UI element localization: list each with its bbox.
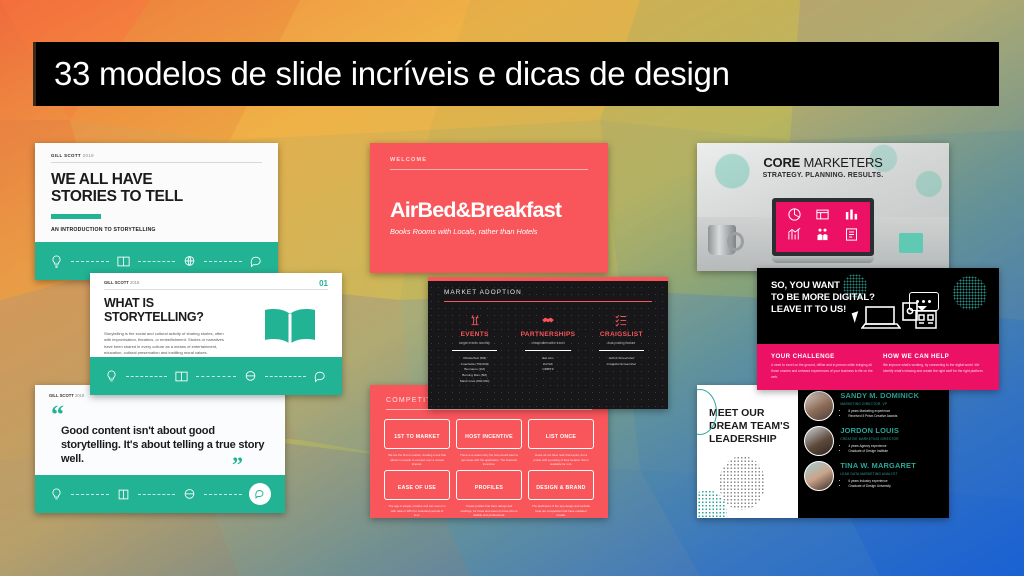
people-icon <box>815 227 830 247</box>
market-column: EVENTS target events monthly Oktoberfest… <box>438 312 511 385</box>
advantage-card: EASE OF USEThe app is simple, intuitive … <box>384 470 450 518</box>
list-item: ORBITZ <box>511 367 584 373</box>
list-item: Mardi Gras (800,000) <box>438 379 511 385</box>
slide-eyebrow: WELCOME <box>370 143 608 163</box>
book-icon <box>116 487 131 502</box>
column-desc: cheap/alternative travel <box>511 341 584 345</box>
column-name: PARTNERSHIPS <box>511 331 584 338</box>
quote-block: “ Good content isn't about good storytel… <box>35 398 285 466</box>
member-name: SANDY M. DOMINICK <box>840 391 919 400</box>
divider <box>71 261 109 262</box>
speech-bubble-icon <box>249 254 264 269</box>
book-icon <box>116 254 131 269</box>
panel: HOW WE CAN HELP We improve what's workin… <box>883 353 985 381</box>
card-label: DESIGN & BRAND <box>536 485 585 491</box>
advantage-card: DESIGN & BRANDThe aesthetics of the app … <box>528 470 594 518</box>
divider <box>138 261 176 262</box>
member-bullet: Received 5 Prism Creative Awards <box>848 414 919 419</box>
slide-thumbnail-stories-title[interactable]: GILL SCOTT 2018 WE ALL HAVE STORIES TO T… <box>35 143 278 280</box>
slide-body-text: Storytelling is the social and cultural … <box>90 325 240 357</box>
slide-subtitle: STRATEGY. PLANNING. RESULTS. <box>697 172 949 179</box>
page-title: 33 modelos de slide incríveis e dicas de… <box>54 55 730 93</box>
member-name: TINA W. MARGARET <box>840 461 916 470</box>
team-member: TINA W. MARGARET LEAD DATA MARKETING ANA… <box>804 461 941 491</box>
card-label: LIST ONCE <box>546 434 576 440</box>
slide-header-brand: GILL SCOTT 2018 <box>90 273 342 285</box>
page-title-banner: 33 modelos de slide incríveis e dicas de… <box>33 42 999 106</box>
green-box-prop <box>899 233 923 253</box>
globe-icon <box>182 487 197 502</box>
slide-title: MARKET ADOPTION <box>428 277 668 296</box>
advantage-card: LIST ONCEHosts do not have 'ads' that ex… <box>528 419 594 467</box>
advantage-card: PROFILESCreate profiles that have rating… <box>456 470 522 518</box>
card-label: PROFILES <box>475 485 503 491</box>
slide-footer-iconbar <box>90 357 342 395</box>
divider <box>138 494 176 495</box>
coffee-mug <box>708 225 736 255</box>
panel-heading: YOUR CHALLENGE <box>771 353 873 360</box>
divider <box>71 494 109 495</box>
column-name: EVENTS <box>438 331 511 338</box>
dot-circle-decoration <box>719 456 765 510</box>
member-bullet: Graduate of Design University <box>848 484 916 489</box>
column-desc: dual posting feature <box>585 341 658 345</box>
slide-title: WE ALL HAVE STORIES TO TELL <box>35 163 278 205</box>
lightbulb-icon <box>49 487 64 502</box>
card-text: We are the first to market, creating a t… <box>384 449 450 467</box>
list-icon <box>844 227 859 247</box>
pie-chart-icon <box>787 207 802 227</box>
qr-icon <box>915 310 937 330</box>
avatar <box>804 461 834 491</box>
slide-thumbnail-more-digital[interactable]: SO, YOU WANT TO BE MORE DIGITAL? LEAVE I… <box>757 268 999 390</box>
globe-icon <box>182 254 197 269</box>
team-member: SANDY M. DOMINICK MARKETING DIRECTOR, VP… <box>804 391 941 421</box>
divider <box>204 494 242 495</box>
column-name: CRAIGSLIST <box>585 331 658 338</box>
card-label: 1ST TO MARKET <box>394 434 440 440</box>
panel-heading: HOW WE CAN HELP <box>883 353 985 360</box>
slide-header-brand: GILL SCOTT 2018 <box>35 143 278 158</box>
lightbulb-icon <box>49 254 64 269</box>
advantage-card: HOST INCENTIVEThere is a reason why the … <box>456 419 522 467</box>
divider <box>126 376 167 377</box>
member-role: LEAD DATA MARKETING ANALYST <box>840 472 916 476</box>
divider <box>265 376 306 377</box>
panel: YOUR CHALLENGE A need to excel on the gr… <box>771 353 873 381</box>
card-text: There is a reason why the host would wan… <box>456 449 522 467</box>
speech-bubble-icon <box>313 369 328 384</box>
slide-thumbnail-core-marketers[interactable]: CORE MARKETERS STRATEGY. PLANNING. RESUL… <box>697 143 949 271</box>
open-book-icon <box>260 306 320 348</box>
slide-thumbnail-market-adoption[interactable]: MARKET ADOPTION EVENTS target events mon… <box>428 277 668 409</box>
laptop-icon <box>861 304 901 332</box>
slide-thumbnail-dream-team[interactable]: MEET OUR DREAM TEAM'S LEADERSHIP SANDY M… <box>697 385 949 518</box>
slide-number: 01 <box>319 279 328 288</box>
avatar <box>804 426 834 456</box>
laptop-base <box>772 256 874 263</box>
checklist-icon <box>585 312 658 327</box>
team-member: JORDON LOUIS CREATIVE MARKETING DIRECTOR… <box>804 426 941 456</box>
globe-icon <box>243 369 258 384</box>
slide-tagline: Books Rooms with Locals, rather than Hot… <box>370 223 608 236</box>
slide-footer-iconbar <box>35 475 285 513</box>
slide-thumbnail-airbed-welcome[interactable]: WELCOME AirBed&Breakfast Books Rooms wit… <box>370 143 608 273</box>
lightbulb-icon <box>104 369 119 384</box>
advantage-card: 1ST TO MARKETWe are the first to market,… <box>384 419 450 467</box>
slide-left-panel: MEET OUR DREAM TEAM'S LEADERSHIP <box>697 385 798 518</box>
panel-text: We improve what's working, by connecting… <box>883 363 985 375</box>
card-text: Hosts do not have 'ads' that expire, but… <box>528 449 594 467</box>
slide-heading-block: CORE MARKETERS STRATEGY. PLANNING. RESUL… <box>697 155 949 179</box>
laptop-screen <box>772 198 874 256</box>
member-name: JORDON LOUIS <box>840 426 899 435</box>
market-column: PARTNERSHIPS cheap/alternative travel Ea… <box>511 312 584 385</box>
divider <box>204 261 242 262</box>
slide-thumbnail-quote[interactable]: GILL SCOTT 2018 “ Good content isn't abo… <box>35 385 285 513</box>
market-columns: EVENTS target events monthly Oktoberfest… <box>428 302 668 385</box>
card-text: The aesthetics of the app design and web… <box>528 500 594 518</box>
card-text: Create profiles that have ratings and ra… <box>456 500 522 518</box>
panels-pink-band: YOUR CHALLENGE A need to excel on the gr… <box>757 344 999 390</box>
member-role: CREATIVE MARKETING DIRECTOR <box>840 437 899 441</box>
divider <box>599 350 644 351</box>
speech-bubble-icon-active <box>249 483 271 505</box>
divider <box>525 350 570 351</box>
panel-text: A need to excel on the ground, offline a… <box>771 363 873 380</box>
divider <box>196 376 237 377</box>
card-text: The app is simple, intuitive and can eve… <box>384 500 450 518</box>
list-item: Craigslist Screenshot <box>585 362 658 368</box>
avatar <box>804 391 834 421</box>
cheers-glasses-icon <box>438 312 511 327</box>
slide-thumbnail-what-is-storytelling[interactable]: GILL SCOTT 2018 01 WHAT IS STORYTELLING?… <box>90 273 342 395</box>
browser-window-icon <box>815 207 830 227</box>
column-desc: target events monthly <box>438 341 511 345</box>
growth-chart-icon <box>787 227 802 247</box>
divider <box>452 350 497 351</box>
device-illustration-group <box>861 288 947 334</box>
advantage-grid: 1ST TO MARKETWe are the first to market,… <box>370 410 608 518</box>
book-icon <box>174 369 189 384</box>
card-label: EASE OF USE <box>398 485 436 491</box>
card-label: HOST INCENTIVE <box>465 434 513 440</box>
bar-stack-icon <box>844 207 859 227</box>
market-column: CRAIGSLIST dual posting feature Airbnb S… <box>585 312 658 385</box>
slide-title: AirBed&Breakfast <box>370 170 608 223</box>
slide-subtitle: AN INTRODUCTION TO STORYTELLING <box>35 219 278 233</box>
team-member-list: SANDY M. DOMINICK MARKETING DIRECTOR, VP… <box>800 385 949 518</box>
slide-title: CORE MARKETERS <box>697 155 949 170</box>
member-role: MARKETING DIRECTOR, VP <box>840 402 919 406</box>
laptop-mockup <box>772 198 874 263</box>
handshake-icon <box>511 312 584 327</box>
member-bullet: Graduate of Design Institute <box>848 449 899 454</box>
